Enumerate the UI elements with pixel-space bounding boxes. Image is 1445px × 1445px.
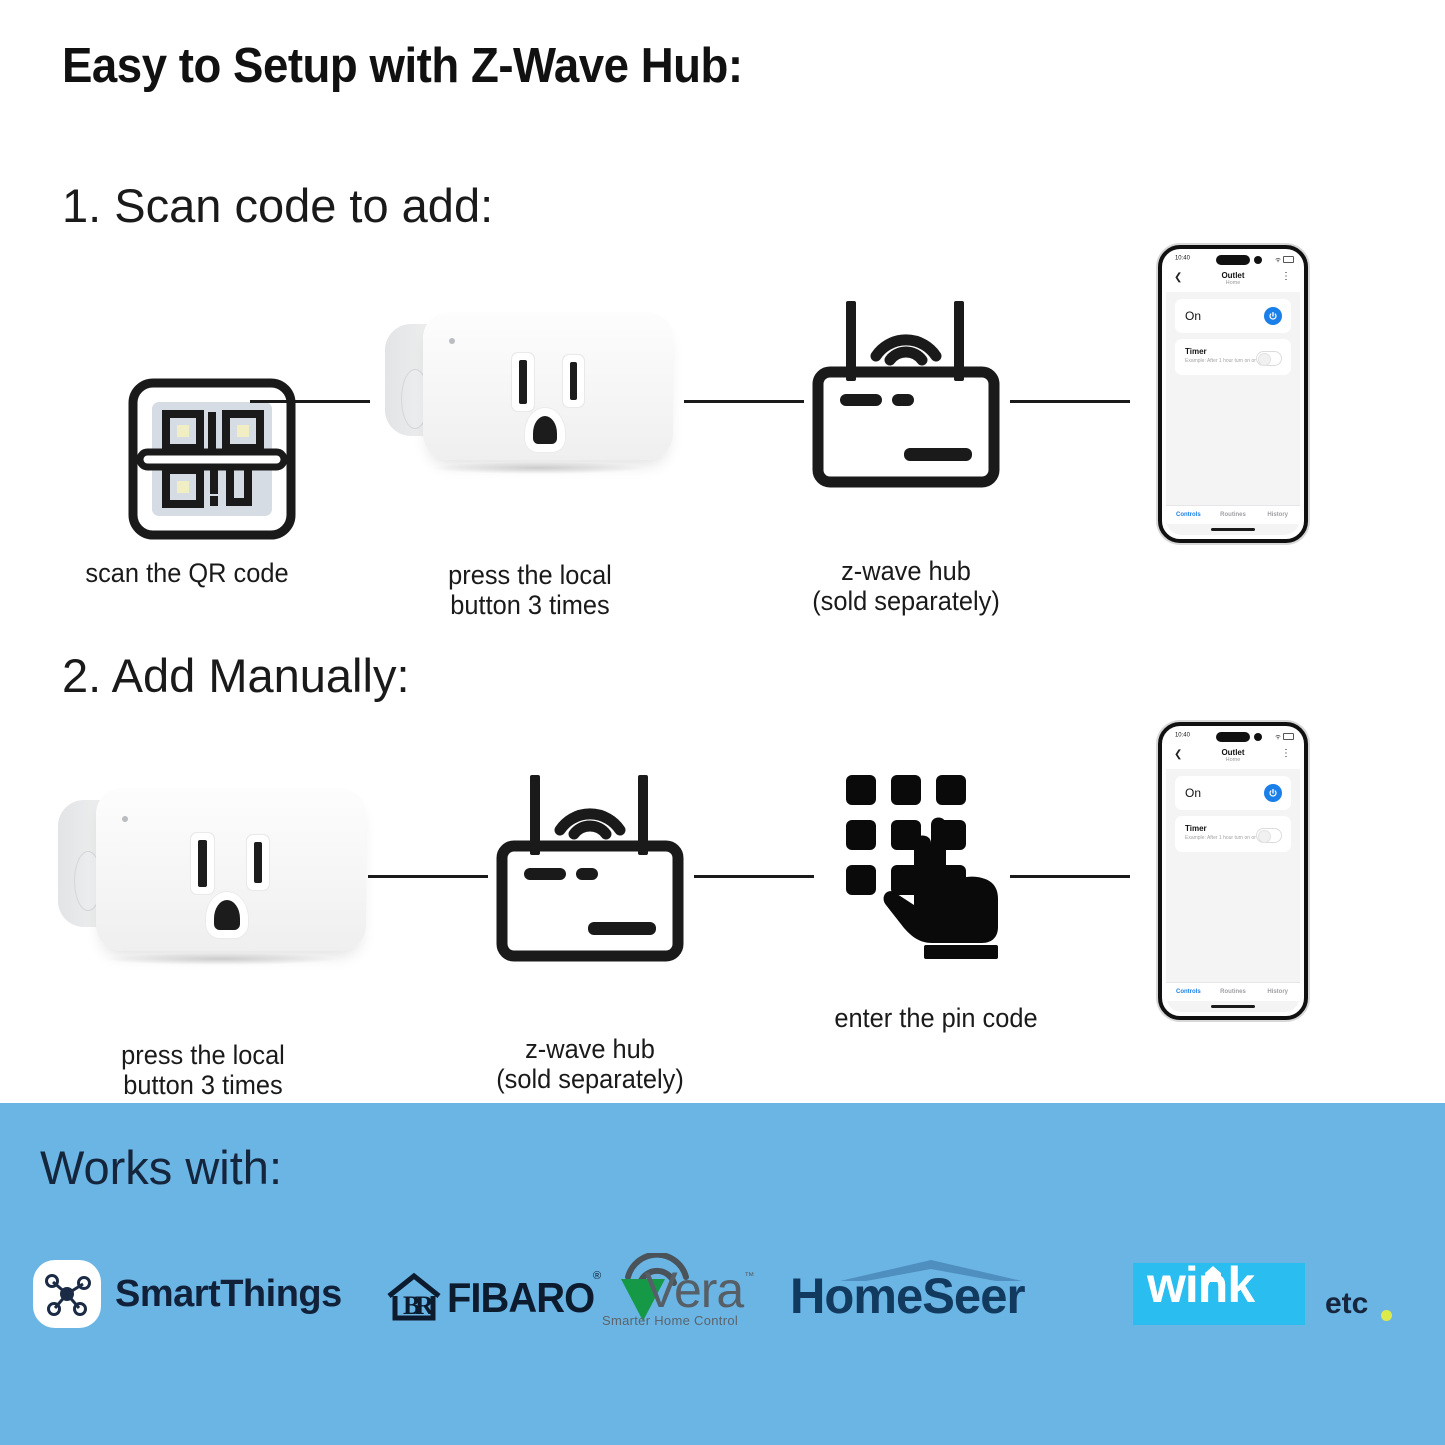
- smart-plug-icon: [58, 778, 368, 963]
- step-1-flow-row: scan the QR code press the local button …: [0, 240, 1445, 570]
- connector-line-1b: [684, 400, 804, 403]
- power-card[interactable]: On: [1175, 776, 1291, 810]
- timer-card-label: Timer: [1185, 347, 1207, 356]
- tab-routines[interactable]: Routines: [1211, 512, 1256, 518]
- timer-card-subtitle: Example: After 1 hour turn on or off: [1185, 835, 1263, 841]
- power-card-label: On: [1185, 786, 1201, 800]
- step-2-node-hub: z-wave hub (sold separately): [490, 772, 690, 962]
- phone-tab-bar: Controls Routines History: [1166, 505, 1300, 524]
- tab-controls[interactable]: Controls: [1166, 989, 1211, 995]
- phone-screen: 10:40 ❮: [1166, 730, 1300, 1012]
- connector-line-2b: [694, 875, 814, 878]
- smart-plug-icon: [385, 302, 675, 472]
- status-icons: [1275, 256, 1294, 263]
- plug-ground-hole: [214, 900, 240, 930]
- works-with-title: Works with:: [40, 1140, 282, 1195]
- status-time: 10:40: [1175, 732, 1190, 738]
- step-1-caption-plug: press the local button 3 times: [375, 560, 685, 620]
- plug-shadow: [106, 953, 336, 965]
- power-icon[interactable]: [1264, 784, 1282, 802]
- phone-screen: 10:40 ❮: [1166, 253, 1300, 535]
- tab-history[interactable]: History: [1255, 989, 1300, 995]
- power-icon[interactable]: [1264, 307, 1282, 325]
- tab-routines[interactable]: Routines: [1211, 989, 1256, 995]
- step-2-node-phone: 10:40 ❮: [1158, 722, 1304, 1018]
- timer-card[interactable]: Timer Example: After 1 hour turn on or o…: [1175, 339, 1291, 375]
- step-2-flow-row: press the local button 3 times z-wave hu…: [0, 710, 1445, 1040]
- plug-outlet-slot-right: [254, 842, 262, 883]
- vera-wordmark-text: Vera: [644, 1262, 743, 1318]
- etc-label: etc: [1325, 1287, 1368, 1321]
- connector-line-1a: [250, 400, 370, 403]
- plug-led-indicator: [122, 816, 128, 822]
- etc-dot: [1381, 1310, 1392, 1321]
- step-2-node-plug: press the local button 3 times: [58, 778, 368, 978]
- connector-line-1c: [1010, 400, 1130, 403]
- step-2-caption-pinpad: enter the pin code: [800, 1003, 1073, 1033]
- page-title: Easy to Setup with Z-Wave Hub:: [62, 38, 743, 94]
- wifi-icon: [1275, 257, 1281, 263]
- wink-wordmark: wink: [1147, 1260, 1254, 1310]
- svg-text:R: R: [415, 1291, 434, 1320]
- infographic-page: Easy to Setup with Z-Wave Hub: 1. Scan c…: [0, 0, 1445, 1445]
- step-2-caption-plug: press the local button 3 times: [48, 1040, 358, 1100]
- step-2-heading: 2. Add Manually:: [62, 648, 410, 703]
- vera-wordmark: VVera ™: [640, 1261, 743, 1319]
- timer-card-subtitle: Example: After 1 hour turn on or off: [1185, 358, 1263, 364]
- plug-front-face: [96, 788, 366, 951]
- step-1-heading: 1. Scan code to add:: [62, 178, 493, 233]
- vera-tagline: Smarter Home Control: [602, 1313, 738, 1328]
- logo-wink: wink etc: [1133, 1257, 1423, 1347]
- timer-card-label: Timer: [1185, 824, 1207, 833]
- step-1-caption-qr: scan the QR code: [41, 558, 332, 588]
- step-1-node-hub: z-wave hub (sold separately): [806, 298, 1006, 488]
- wifi-icon: [1275, 734, 1281, 740]
- status-icons: [1275, 733, 1294, 740]
- z-wave-hub-icon: [806, 298, 1006, 488]
- phone-notch: [1216, 732, 1250, 742]
- fibaro-wordmark: FIBARO: [447, 1274, 594, 1322]
- logo-smartthings: SmartThings: [33, 1255, 353, 1345]
- timer-toggle[interactable]: [1256, 828, 1282, 843]
- logo-homeseer: HomeSeer: [790, 1257, 1100, 1337]
- fibaro-house-icon: B R: [385, 1270, 443, 1322]
- app-title: Outlet: [1166, 748, 1300, 757]
- vera-trademark: ™: [744, 1271, 753, 1282]
- step-2-node-pinpad: enter the pin code: [836, 765, 1036, 965]
- plug-led-indicator: [449, 338, 455, 344]
- plug-ground-hole: [533, 416, 557, 444]
- plug-outlet-slot-right: [570, 362, 577, 400]
- phone-status-bar: 10:40: [1166, 730, 1300, 745]
- logo-fibaro: B R FIBARO ®: [385, 1260, 585, 1340]
- phone-nav-bar: ❮ Outlet Home ⋮: [1166, 745, 1300, 769]
- phone-app-icon: 10:40 ❮: [1158, 722, 1308, 1020]
- step-2-caption-hub: z-wave hub (sold separately): [440, 1034, 741, 1094]
- battery-icon: [1283, 256, 1294, 263]
- timer-card[interactable]: Timer Example: After 1 hour turn on or o…: [1175, 816, 1291, 852]
- tab-history[interactable]: History: [1255, 512, 1300, 518]
- phone-tab-bar: Controls Routines History: [1166, 982, 1300, 1001]
- logo-vera: VVera ™ Smarter Home Control: [600, 1247, 770, 1357]
- plug-outlet-slot-left: [198, 840, 207, 887]
- partner-logos: SmartThings B R FIBARO ®: [0, 1255, 1445, 1375]
- homeseer-wordmark: HomeSeer: [790, 1267, 1025, 1325]
- smartthings-wordmark: SmartThings: [115, 1273, 342, 1316]
- tab-controls[interactable]: Controls: [1166, 512, 1211, 518]
- plug-outlet-slot-left: [519, 360, 527, 404]
- step-1-node-phone: 10:40 ❮: [1158, 245, 1304, 541]
- wink-house-dot-icon: [1204, 1265, 1222, 1283]
- app-subtitle: Home: [1166, 757, 1300, 763]
- plug-shadow: [433, 462, 643, 474]
- home-indicator: [1211, 528, 1255, 531]
- home-indicator: [1211, 1005, 1255, 1008]
- app-subtitle: Home: [1166, 280, 1300, 286]
- phone-camera-dot: [1254, 256, 1262, 264]
- connector-line-2c: [1010, 875, 1130, 878]
- power-card[interactable]: On: [1175, 299, 1291, 333]
- battery-icon: [1283, 733, 1294, 740]
- phone-status-bar: 10:40: [1166, 253, 1300, 268]
- phone-camera-dot: [1254, 733, 1262, 741]
- pin-pad-hand-icon: [836, 765, 1036, 965]
- phone-nav-bar: ❮ Outlet Home ⋮: [1166, 268, 1300, 292]
- plug-front-face: [423, 312, 673, 460]
- phone-app-icon: 10:40 ❮: [1158, 245, 1308, 543]
- step-1-caption-hub: z-wave hub (sold separately): [756, 556, 1057, 616]
- app-title: Outlet: [1166, 271, 1300, 280]
- smartthings-badge: [33, 1260, 101, 1328]
- power-card-label: On: [1185, 309, 1201, 323]
- connector-line-2a: [368, 875, 488, 878]
- z-wave-hub-icon: [490, 772, 690, 962]
- timer-toggle[interactable]: [1256, 351, 1282, 366]
- status-time: 10:40: [1175, 255, 1190, 261]
- more-vertical-icon[interactable]: ⋮: [1281, 749, 1291, 759]
- smartthings-nodes-icon: [33, 1260, 101, 1328]
- more-vertical-icon[interactable]: ⋮: [1281, 272, 1291, 282]
- phone-notch: [1216, 255, 1250, 265]
- step-1-node-plug: press the local button 3 times: [385, 302, 675, 487]
